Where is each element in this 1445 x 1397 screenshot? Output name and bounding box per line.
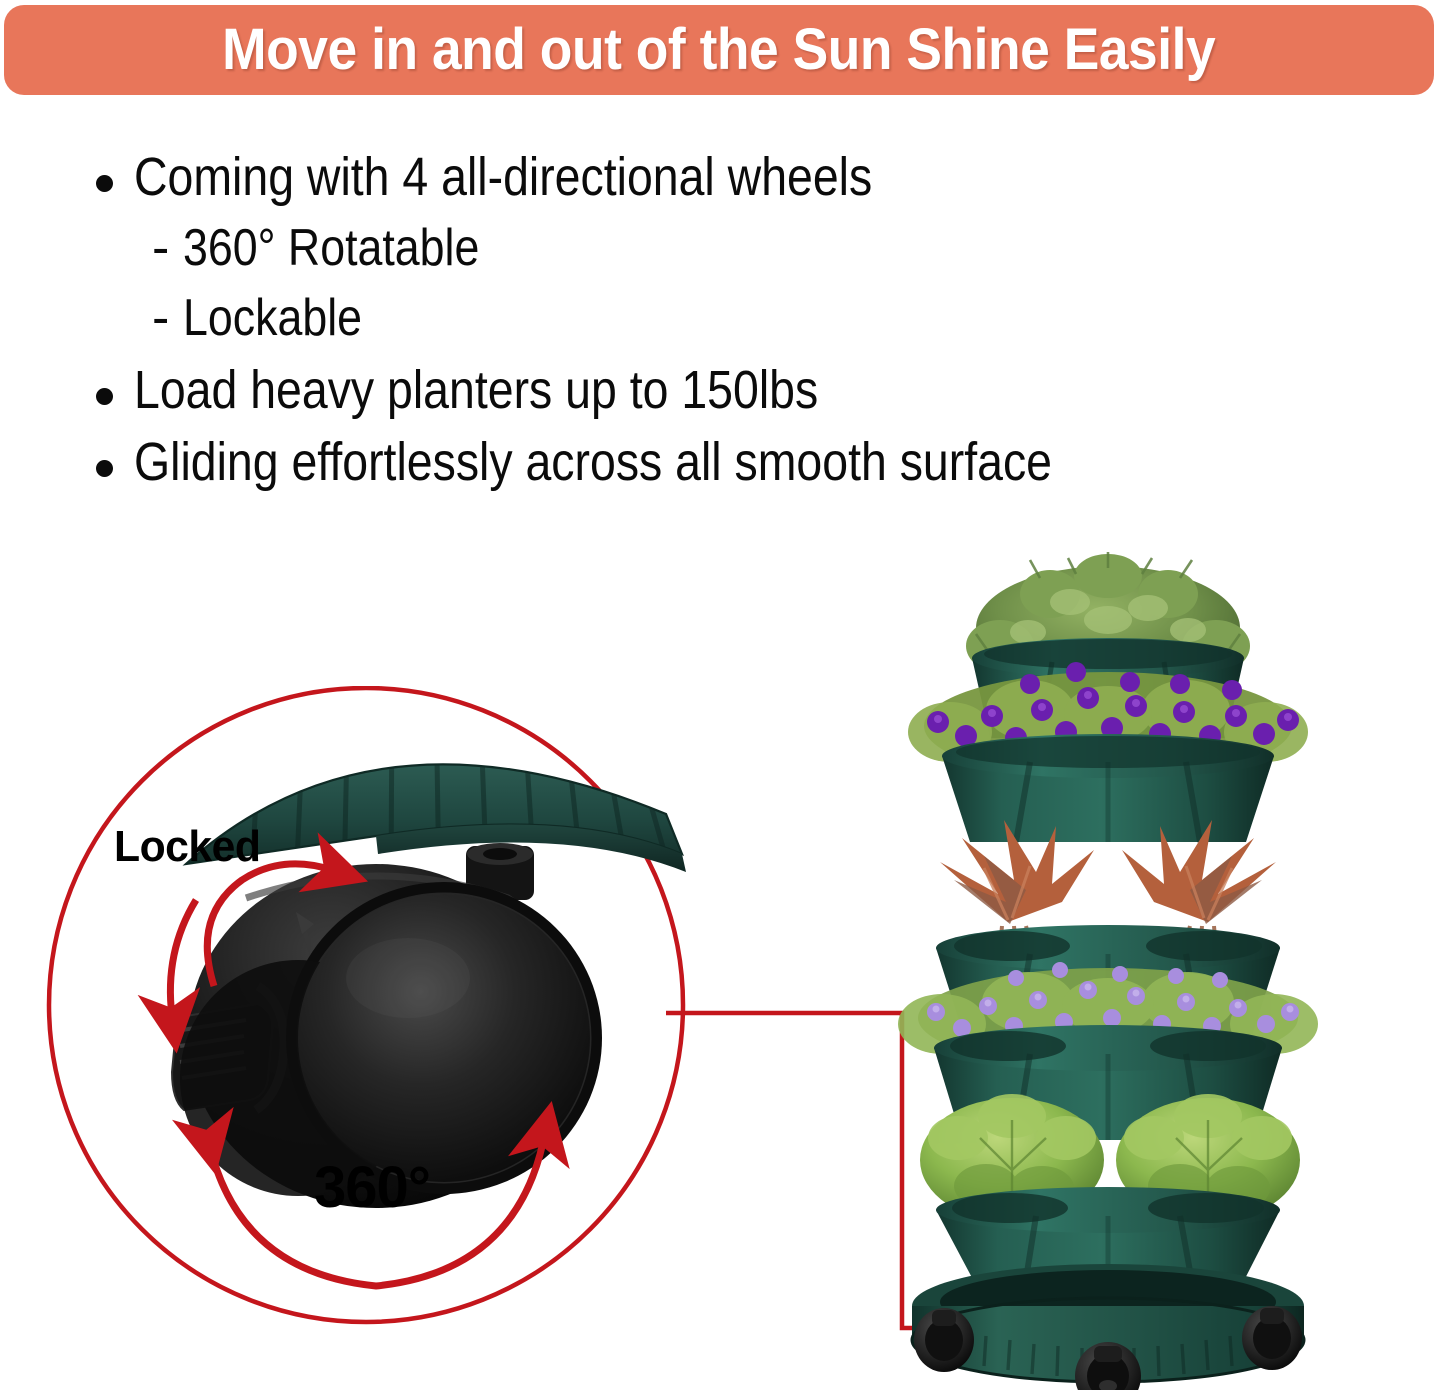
banner-title: Move in and out of the Sun Shine Easily: [222, 21, 1215, 79]
bullet-dash-icon: -: [152, 220, 169, 276]
planter-base-plate: [186, 692, 686, 886]
base-wheel-right: [1242, 1306, 1302, 1370]
list-item: - Lockable: [152, 290, 1436, 346]
locked-arrow-tail: [170, 900, 196, 1016]
feature-text: 360° Rotatable: [183, 220, 479, 276]
header-banner: Move in and out of the Sun Shine Easily: [4, 5, 1434, 95]
list-item: Coming with 4 all-directional wheels: [96, 148, 1436, 206]
caster-detail-illustration: [46, 686, 690, 1326]
base-wheel-left: [914, 1308, 974, 1372]
feature-text: Gliding effortlessly across all smooth s…: [134, 433, 1052, 491]
bullet-dot-icon: [96, 388, 113, 405]
rotation-label: 360°: [314, 1154, 430, 1221]
bullet-dot-icon: [96, 175, 113, 192]
bullet-dot-icon: [96, 460, 113, 477]
locked-label: Locked: [114, 822, 261, 872]
caster-detail-callout: Locked 360°: [46, 686, 690, 1326]
feature-text: Lockable: [183, 290, 362, 346]
list-item: - 360° Rotatable: [152, 220, 1436, 276]
list-item: Gliding effortlessly across all smooth s…: [96, 433, 1436, 491]
feature-list: Coming with 4 all-directional wheels - 3…: [96, 148, 1436, 505]
tier-2-pot: [942, 734, 1274, 842]
list-item: Load heavy planters up to 150lbs: [96, 361, 1436, 419]
planter-tower-image: [880, 550, 1350, 1390]
feature-text: Coming with 4 all-directional wheels: [134, 148, 872, 206]
feature-text: Load heavy planters up to 150lbs: [134, 361, 818, 419]
bullet-dash-icon: -: [152, 290, 169, 346]
